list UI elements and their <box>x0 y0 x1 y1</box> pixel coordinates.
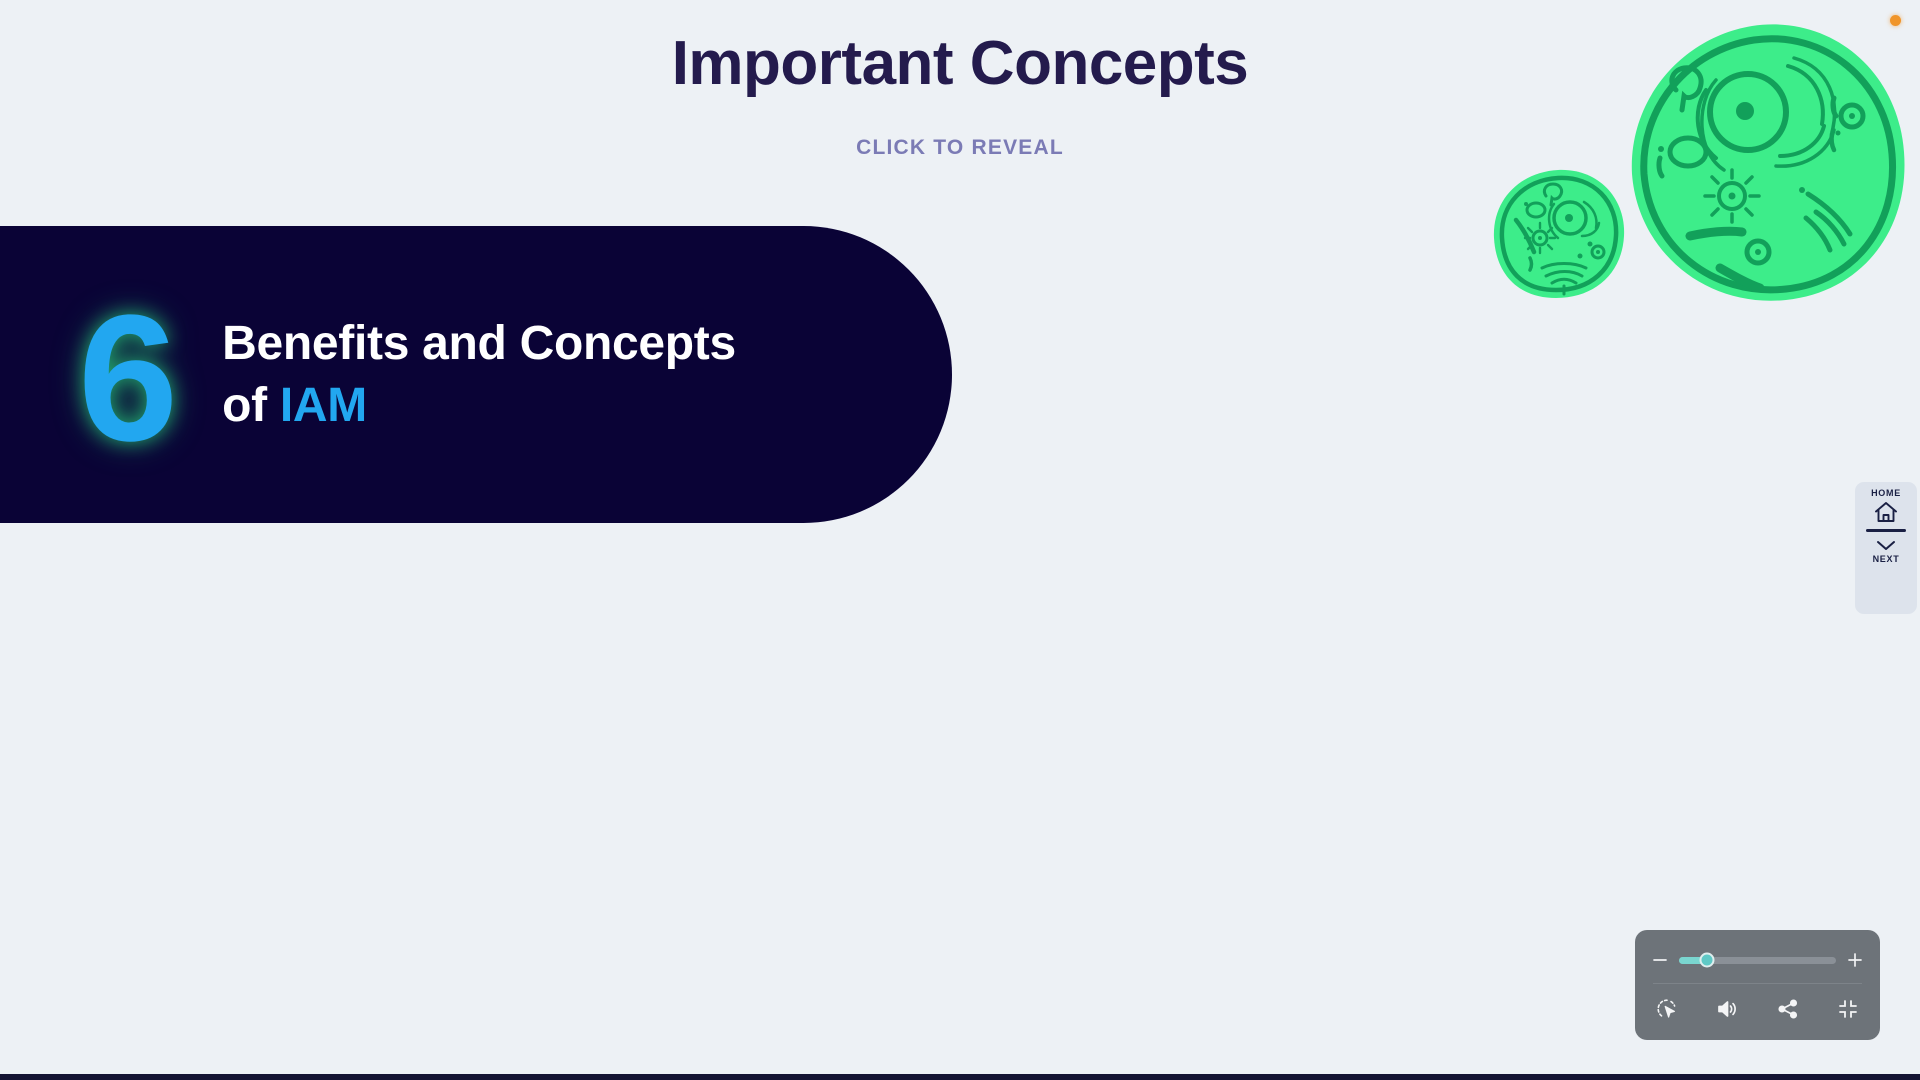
zoom-slider[interactable] <box>1679 957 1836 964</box>
minimize-icon[interactable] <box>1836 997 1860 1021</box>
player-toolbar <box>1635 930 1880 1040</box>
small-cell-icon <box>1494 170 1624 298</box>
toolbar-divider <box>1653 983 1862 984</box>
minus-icon[interactable] <box>1651 951 1669 969</box>
concept-title-line2-prefix: of <box>222 379 280 432</box>
bottom-strip <box>0 1074 1920 1080</box>
status-dot-icon <box>1890 15 1901 26</box>
plus-icon[interactable] <box>1846 951 1864 969</box>
share-icon[interactable] <box>1776 997 1800 1021</box>
home-icon[interactable] <box>1873 500 1899 524</box>
cursor-select-icon[interactable] <box>1655 997 1679 1021</box>
presentation-slide: Important Concepts CLICK TO REVEAL 6 Ben… <box>0 0 1920 1080</box>
concept-title-line1: Benefits and Concepts <box>222 317 736 370</box>
next-label: NEXT <box>1873 554 1900 564</box>
zoom-control-row <box>1651 940 1864 980</box>
nav-divider <box>1866 529 1906 532</box>
volume-icon[interactable] <box>1715 997 1739 1021</box>
toolbar-actions <box>1651 986 1864 1032</box>
slide-navigation: HOME NEXT <box>1855 482 1917 614</box>
chevron-down-icon[interactable] <box>1873 537 1899 553</box>
home-label: HOME <box>1871 488 1901 498</box>
concept-title: Benefits and Concepts of IAM <box>222 313 736 436</box>
concept-number: 6 <box>78 296 178 462</box>
concept-title-accent: IAM <box>280 379 367 432</box>
zoom-slider-thumb[interactable] <box>1700 953 1715 968</box>
concept-card[interactable]: 6 Benefits and Concepts of IAM <box>0 226 952 523</box>
green-cells-illustration <box>1480 6 1920 346</box>
large-cell-icon <box>1632 24 1905 300</box>
